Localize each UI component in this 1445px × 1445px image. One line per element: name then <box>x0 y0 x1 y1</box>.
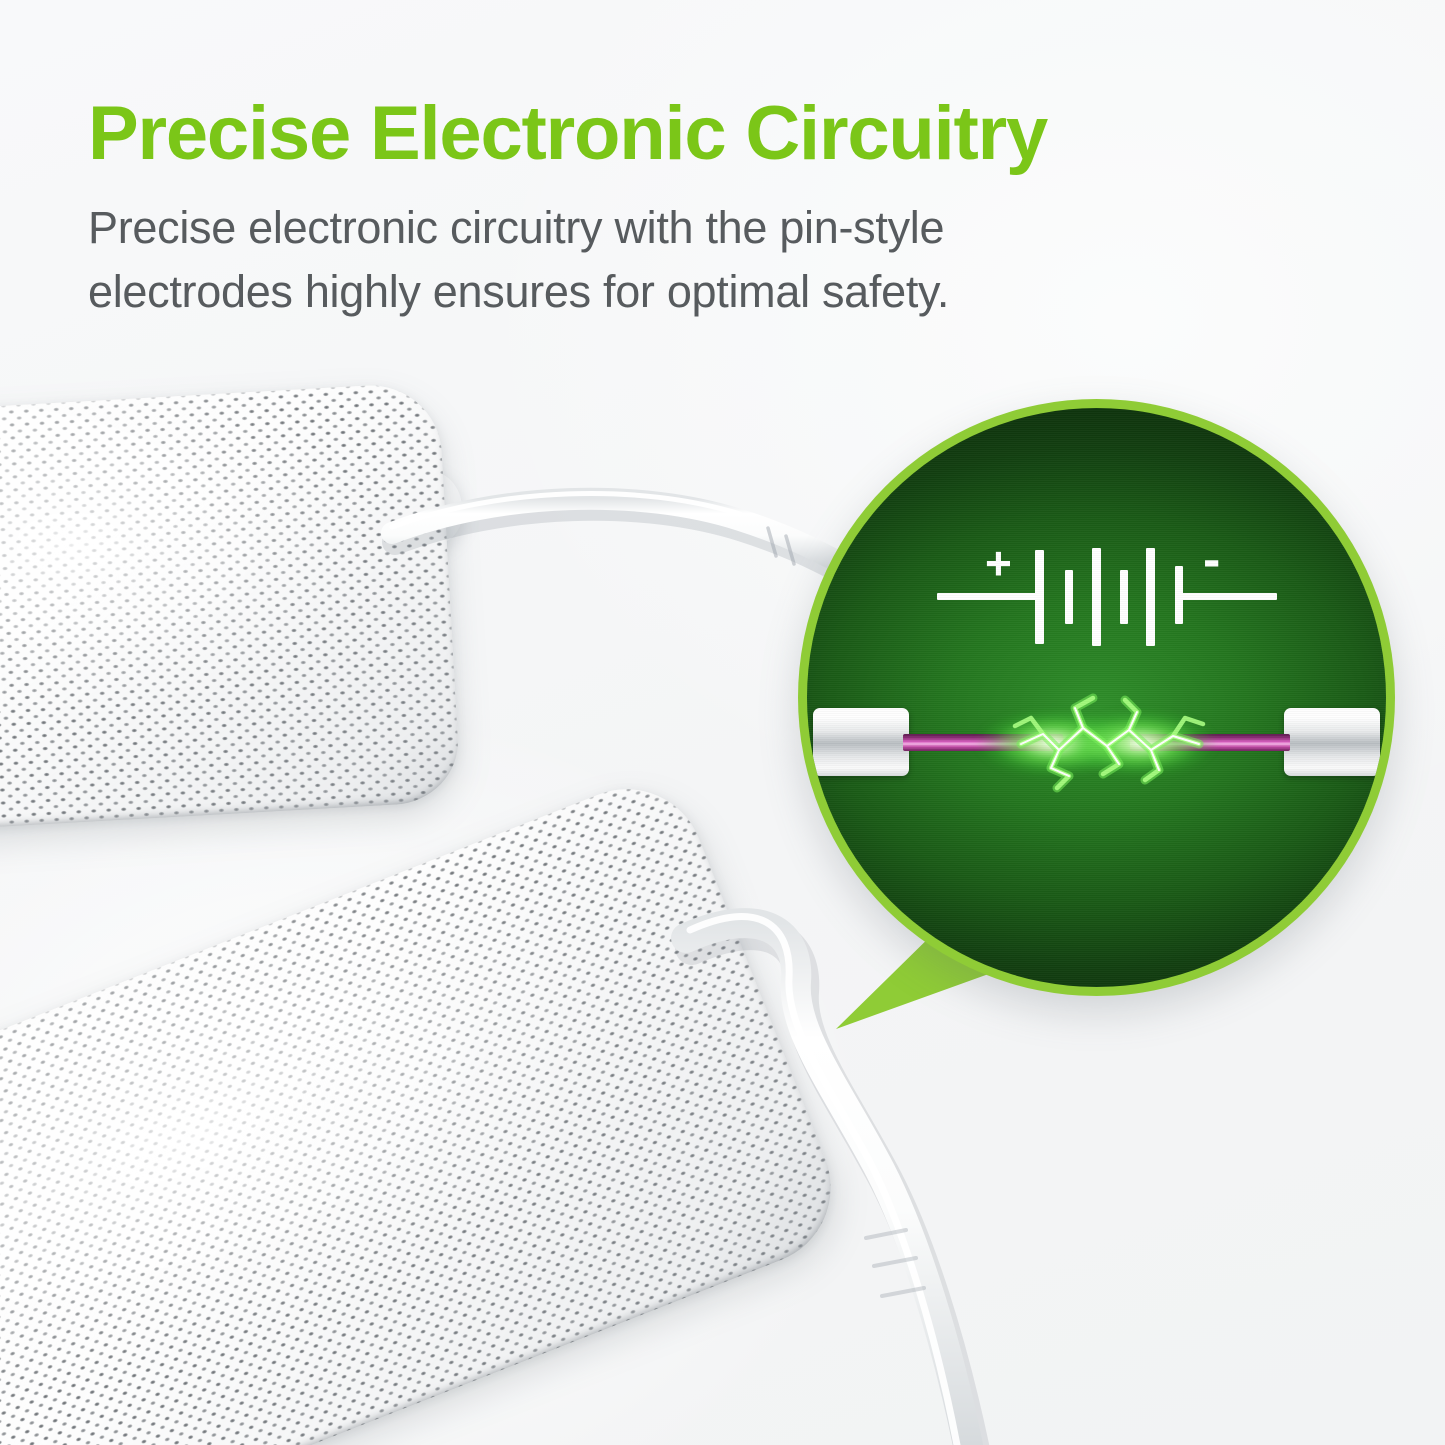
battery-left-lead <box>937 593 1037 600</box>
pin-electrode-arc <box>807 684 1386 804</box>
battery-positive-sign: + <box>985 540 1012 586</box>
pad-rim <box>0 382 461 835</box>
subtitle: Precise electronic circuitry with the pi… <box>88 196 1098 324</box>
callout-interior: + - <box>807 408 1386 987</box>
pin-connector-left <box>813 708 909 776</box>
page-title: Precise Electronic Circuitry <box>88 96 1268 172</box>
battery-plate-tall-1 <box>1035 550 1044 644</box>
battery-plate-short-1 <box>1065 570 1073 624</box>
battery-plate-short-2 <box>1120 570 1128 624</box>
battery-negative-sign: - <box>1203 534 1220 586</box>
battery-plate-tall-2 <box>1092 548 1101 646</box>
battery-right-lead <box>1181 593 1277 600</box>
battery-symbol-icon: + - <box>937 536 1277 656</box>
circuitry-detail-callout: + - <box>798 399 1395 996</box>
pin-shaft-right <box>1130 734 1290 751</box>
upper-electrode-pad <box>0 382 461 835</box>
pin-shaft-left <box>903 734 1063 751</box>
subtitle-line-1: Precise electronic circuitry with the pi… <box>88 196 1098 260</box>
pin-connector-right <box>1284 708 1380 776</box>
product-feature-image: Precise Electronic Circuitry Precise ele… <box>0 0 1445 1445</box>
battery-plate-tall-3 <box>1146 548 1155 646</box>
subtitle-line-2: electrodes highly ensures for optimal sa… <box>88 260 1098 324</box>
